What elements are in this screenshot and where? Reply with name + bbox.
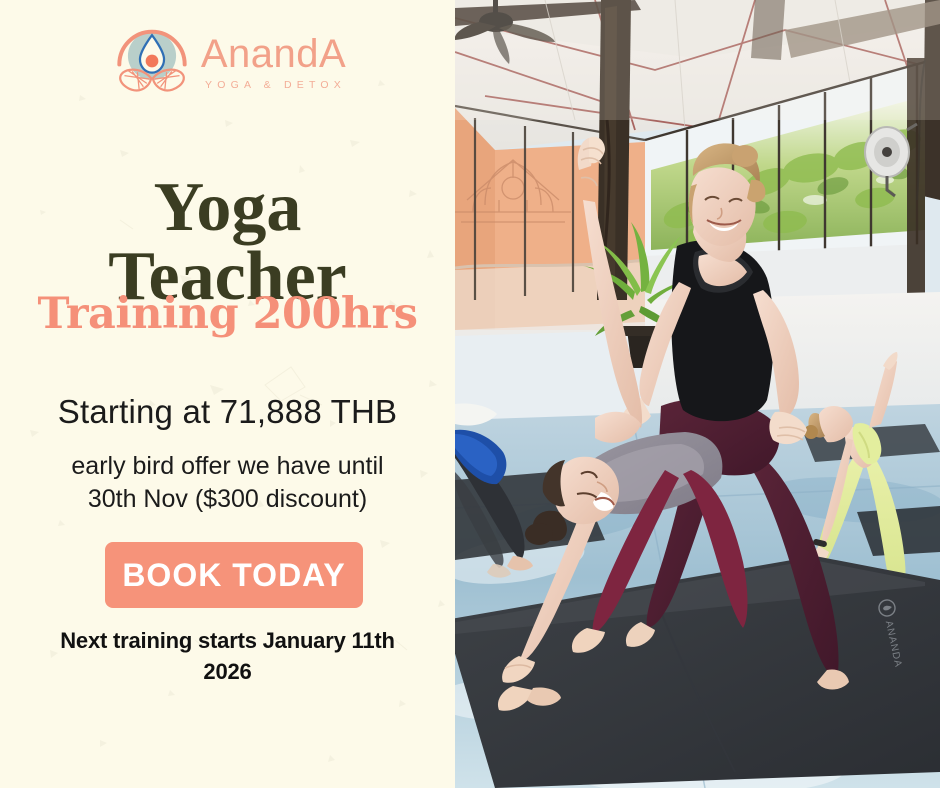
book-today-button[interactable]: BOOK TODAY (105, 542, 363, 608)
brand-lockup: AnandA YOGA & DETOX (0, 18, 455, 104)
next-training-note: Next training starts January 11th 2026 (0, 625, 455, 687)
next-training-line-2: 2026 (0, 656, 455, 687)
brand-wordmark: AnandA YOGA & DETOX (201, 34, 346, 91)
headline-line-1: Yoga (0, 173, 455, 242)
left-content-panel: AnandA YOGA & DETOX Yoga Teacher Trainin… (0, 0, 455, 788)
lotus-droplet-logo-icon (109, 18, 195, 104)
poster-root: AnandA YOGA & DETOX Yoga Teacher Trainin… (0, 0, 940, 788)
price-text: Starting at 71,888 THB (0, 394, 455, 430)
next-training-line-1: Next training starts January 11th (0, 625, 455, 656)
offer-line-1: early bird offer we have until (0, 450, 455, 483)
offer-line-2: 30th Nov ($300 discount) (0, 483, 455, 516)
brand-tagline: YOGA & DETOX (205, 79, 346, 91)
brand-name: AnandA (201, 34, 346, 74)
subheadline: Training 200hrs (0, 293, 455, 336)
studio-photo: ANANDA (455, 0, 940, 788)
studio-photo-illustration: ANANDA (455, 0, 940, 788)
offer-text: early bird offer we have until 30th Nov … (0, 450, 455, 516)
